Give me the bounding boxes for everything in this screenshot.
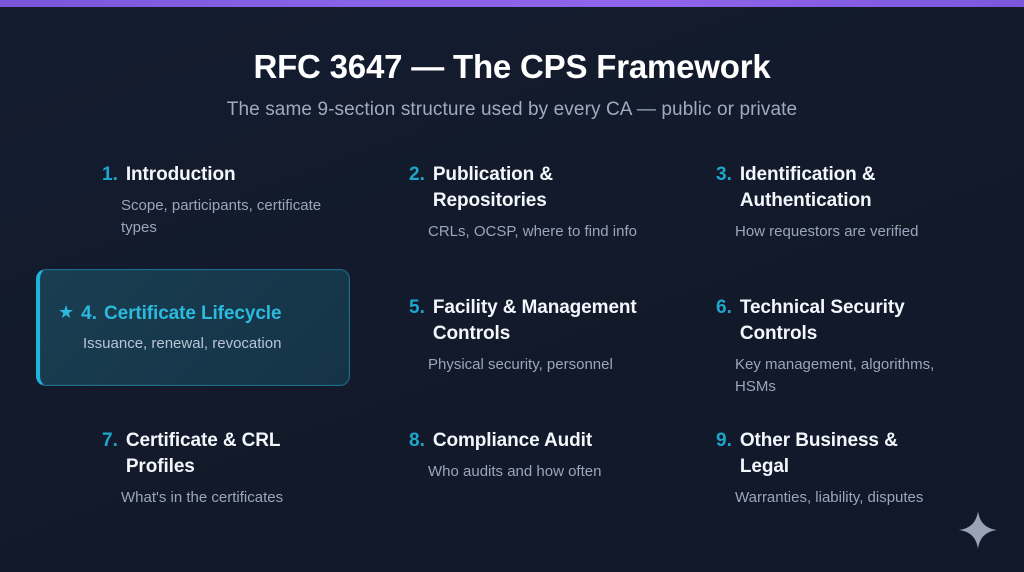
section-number: 8. [409,429,425,453]
section-heading: ★ 4. Certificate Lifecycle [58,301,331,327]
top-accent-bar [0,0,1024,7]
section-item-9[interactable]: 9. Other Business & Legal Warranties, li… [658,428,965,561]
page-subtitle: The same 9-section structure used by eve… [0,99,1024,121]
slide-root: RFC 3647 — The CPS Framework The same 9-… [0,0,1024,572]
section-number: 1. [102,163,118,187]
section-number: 2. [409,163,425,187]
section-title: Publication & Repositories [433,162,644,214]
section-item-7[interactable]: 7. Certificate & CRL Profiles What's in … [44,428,351,561]
section-title: Identification & Authentication [740,162,951,214]
section-description: Scope, participants, certificate types [102,195,337,238]
sections-grid: 1. Introduction Scope, participants, cer… [44,162,988,561]
section-heading: 3. Identification & Authentication [716,162,951,214]
slide-header: RFC 3647 — The CPS Framework The same 9-… [0,48,1024,121]
section-title: Certificate & CRL Profiles [126,428,337,480]
page-title: RFC 3647 — The CPS Framework [0,48,1024,87]
section-description: What's in the certificates [102,487,337,508]
section-heading: 2. Publication & Repositories [409,162,644,214]
section-item-6[interactable]: 6. Technical Security Controls Key manag… [658,295,965,428]
section-item-3[interactable]: 3. Identification & Authentication How r… [658,162,965,295]
section-number: 7. [102,429,118,453]
section-item-5[interactable]: 5. Facility & Management Controls Physic… [351,295,658,428]
section-number: 5. [409,296,425,320]
section-heading: 7. Certificate & CRL Profiles [102,428,337,480]
section-heading: 9. Other Business & Legal [716,428,951,480]
section-number: 6. [716,296,732,320]
section-heading: 8. Compliance Audit [409,428,644,454]
section-item-8[interactable]: 8. Compliance Audit Who audits and how o… [351,428,658,561]
section-description: How requestors are verified [716,221,951,242]
star-icon: ★ [58,303,74,321]
section-number: 3. [716,163,732,187]
sparkle-icon [958,510,998,550]
section-description: Key management, algorithms, HSMs [716,354,951,397]
section-title: Other Business & Legal [740,428,951,480]
section-number: 9. [716,429,732,453]
section-heading: 5. Facility & Management Controls [409,295,644,347]
section-heading: 6. Technical Security Controls [716,295,951,347]
section-description: CRLs, OCSP, where to find info [409,221,644,242]
section-description: Physical security, personnel [409,354,644,375]
section-title: Technical Security Controls [740,295,951,347]
section-description: Issuance, renewal, revocation [58,333,308,354]
section-title: Facility & Management Controls [433,295,644,347]
section-title: Compliance Audit [433,428,592,454]
section-item-2[interactable]: 2. Publication & Repositories CRLs, OCSP… [351,162,658,295]
section-title: Introduction [126,162,236,188]
section-heading: 1. Introduction [102,162,337,188]
section-description: Who audits and how often [409,461,644,482]
section-number: 4. [81,302,97,326]
section-title: Certificate Lifecycle [104,301,281,327]
section-description: Warranties, liability, disputes [716,487,951,508]
section-item-4-highlighted[interactable]: ★ 4. Certificate Lifecycle Issuance, ren… [36,269,350,386]
